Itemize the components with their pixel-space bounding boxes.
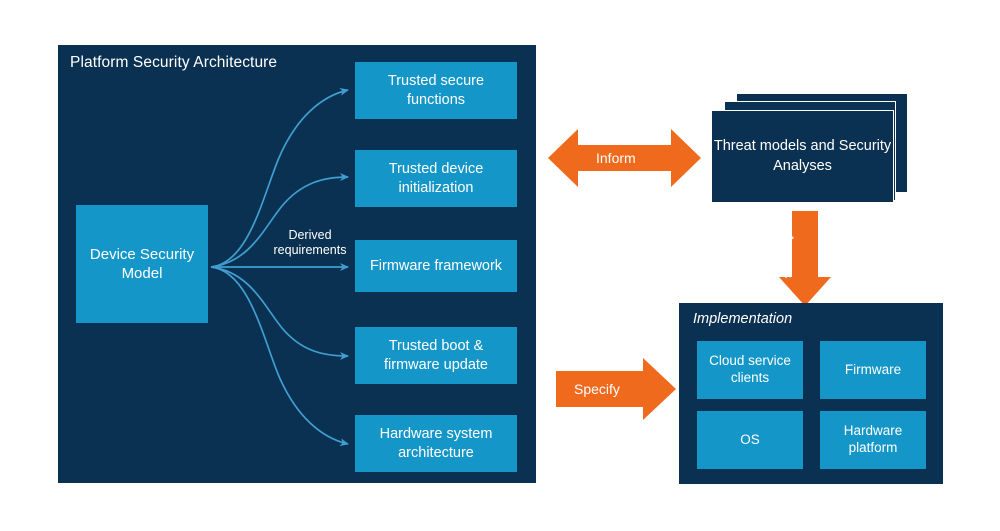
node-hardware-system-architecture-label: Hardware system architecture <box>361 425 511 462</box>
implementation-title: Implementation <box>693 311 792 327</box>
implementation-cell-os-label: OS <box>740 432 760 449</box>
node-device-security-model-label: Device Security Model <box>82 245 202 283</box>
implementation-cell-hardware-platform-label: Hardware platform <box>824 423 922 457</box>
implementation-cell-firmware-label: Firmware <box>845 362 901 379</box>
psa-panel-title: Platform Security Architecture <box>70 54 277 72</box>
node-trusted-boot-firmware-update: Trusted boot & firmware update <box>355 327 517 384</box>
node-hardware-system-architecture: Hardware system architecture <box>355 415 517 472</box>
node-firmware-framework: Firmware framework <box>355 240 517 292</box>
node-firmware-framework-label: Firmware framework <box>370 257 502 276</box>
threat-models-label: Threat models and Security Analyses <box>712 137 893 176</box>
implementation-cell-hardware-platform: Hardware platform <box>820 411 926 469</box>
implementation-cell-firmware: Firmware <box>820 341 926 399</box>
assess-arrow-label: Assess <box>781 233 797 278</box>
node-trusted-device-initialization-label: Trusted device initialization <box>361 160 511 197</box>
node-trusted-boot-firmware-update-label: Trusted boot & firmware update <box>361 337 511 374</box>
implementation-cell-cloud-service-clients: Cloud service clients <box>697 341 803 399</box>
derived-requirements-label: Derived requirements <box>255 228 365 258</box>
node-trusted-device-initialization: Trusted device initialization <box>355 150 517 207</box>
diagram-canvas: Platform Security Architecture Device Se… <box>0 0 1000 531</box>
implementation-cell-cloud-service-clients-label: Cloud service clients <box>701 353 799 387</box>
implementation-panel: Implementation Cloud service clients Fir… <box>679 303 943 484</box>
threat-models-card-front: Threat models and Security Analyses <box>711 110 894 203</box>
node-device-security-model: Device Security Model <box>76 205 208 323</box>
implementation-cell-os: OS <box>697 411 803 469</box>
node-trusted-secure-functions-label: Trusted secure functions <box>361 72 511 109</box>
specify-arrow-label: Specify <box>574 381 620 397</box>
inform-arrow-label: Inform <box>596 150 636 166</box>
node-trusted-secure-functions: Trusted secure functions <box>355 62 517 119</box>
